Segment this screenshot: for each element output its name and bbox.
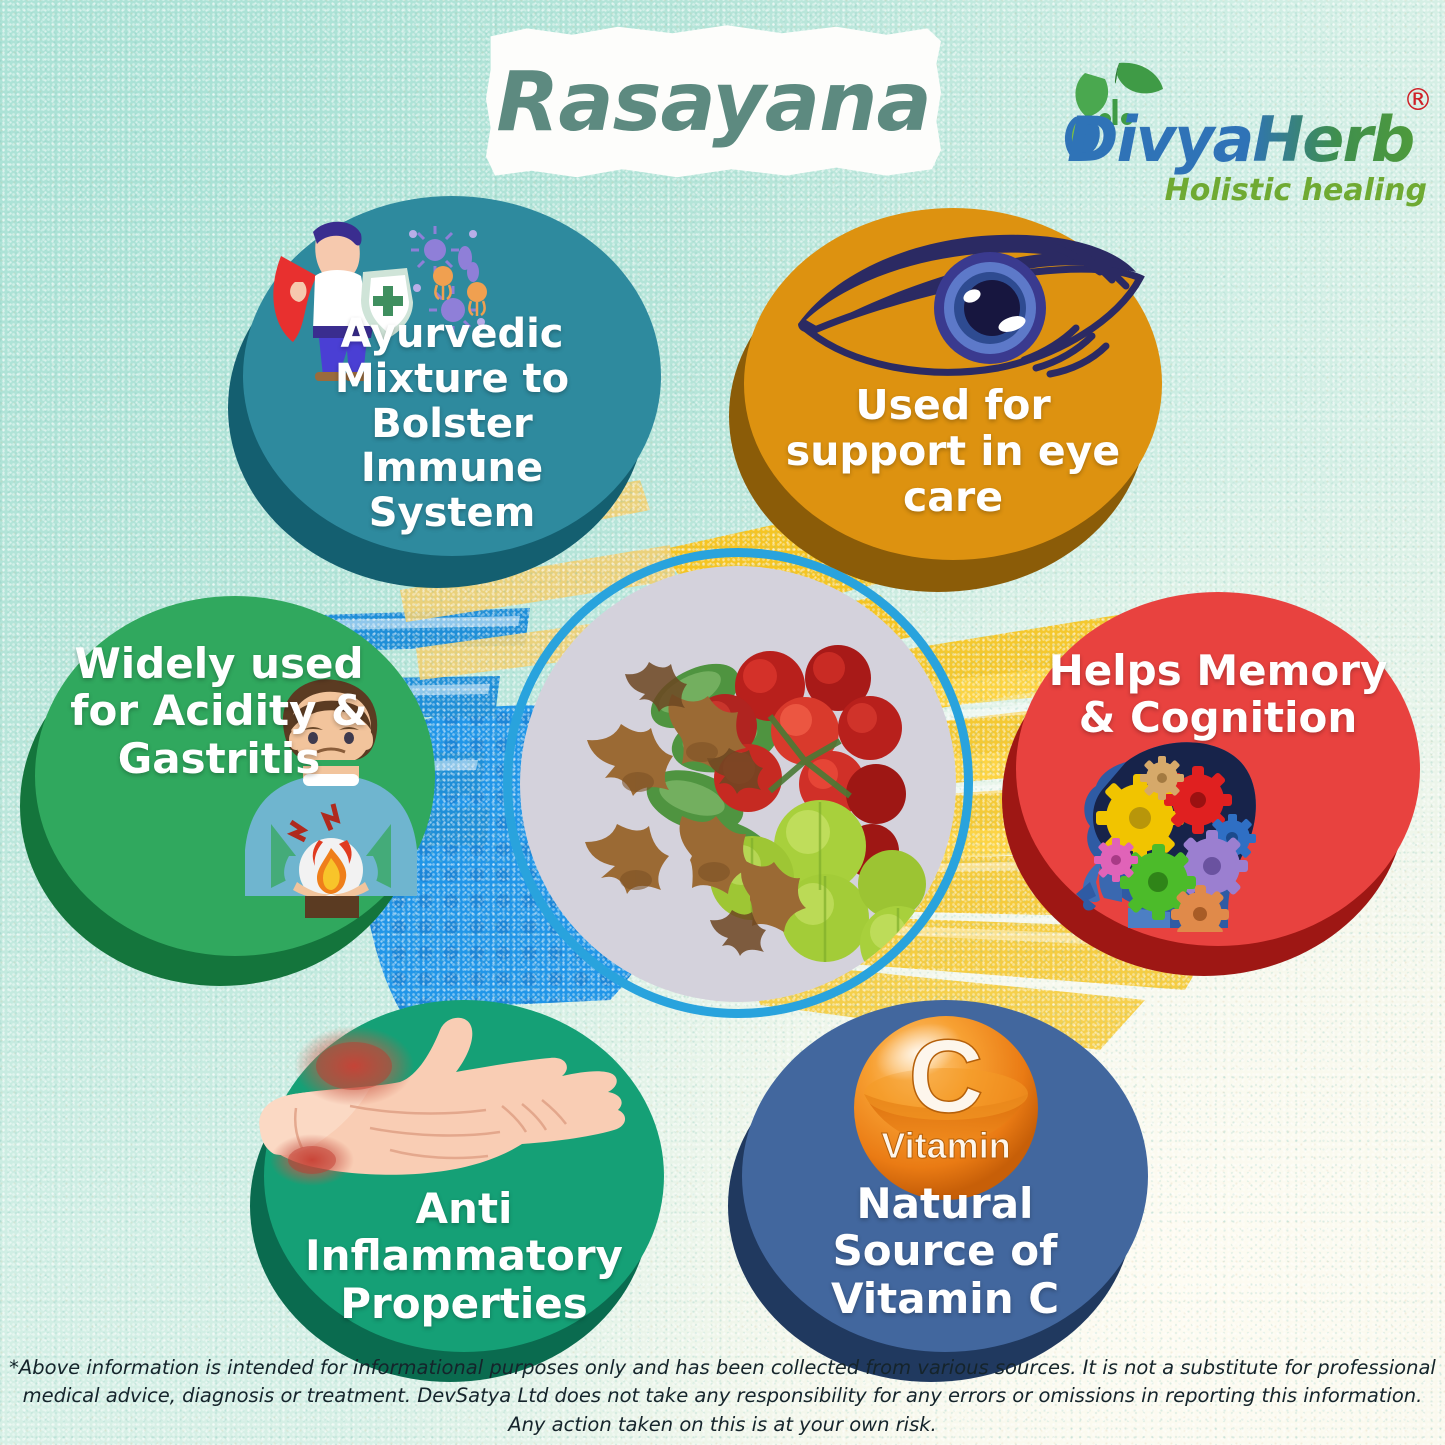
gear-tan: [1140, 756, 1184, 800]
gear-green: [1120, 844, 1196, 920]
bubble-label-acidity: Widely used for Acidity & Gastritis: [54, 640, 384, 781]
disclaimer-text: *Above information is intended for infor…: [0, 1354, 1445, 1439]
vitamin-c-sphere-icon: C Vitamin: [846, 1008, 1046, 1208]
svg-text:C: C: [908, 1019, 983, 1135]
bubble-memory[interactable]: Helps Memory & Cognition: [1016, 592, 1420, 946]
bubble-label-vitamin-c: Natural Source of Vitamin C: [770, 1180, 1120, 1321]
inflamed-hand-icon: [250, 1010, 650, 1210]
brand-logo: DivyaHerb ® Holistic healing: [1055, 55, 1435, 220]
gear-yellow: [1096, 774, 1184, 862]
svg-text:Vitamin: Vitamin: [881, 1125, 1010, 1166]
center-ring: [503, 548, 973, 1018]
bubble-label-immune: Ayurvedic Mixture to Bolster Immune Syst…: [287, 312, 617, 536]
gear-orange: [1171, 885, 1229, 932]
brain-gears-icon: [1066, 732, 1316, 932]
page-title: Rasayana: [486, 22, 941, 182]
gear-blue: [1208, 814, 1256, 862]
bubble-vitamin-c[interactable]: C Vitamin Natural Source of Vitamin C: [742, 1000, 1148, 1352]
gear-pink: [1094, 838, 1138, 882]
bubble-immune[interactable]: Ayurvedic Mixture to Bolster Immune Syst…: [243, 196, 661, 556]
bubble-label-eye-care: Used for support in eye care: [773, 383, 1133, 521]
gear-purple: [1176, 830, 1248, 902]
bubble-anti-inflammatory[interactable]: Anti Inflammatory Properties: [264, 1000, 664, 1352]
brand-name: DivyaHerb: [1067, 103, 1413, 176]
infographic-poster: Rasayana DivyaHerb ® Holistic healing: [0, 0, 1445, 1445]
gear-red: [1164, 766, 1232, 834]
bubble-acidity[interactable]: Widely used for Acidity & Gastritis: [35, 596, 435, 956]
bubble-label-memory: Helps Memory & Cognition: [1043, 647, 1393, 741]
bubble-eye-care[interactable]: Used for support in eye care: [744, 208, 1162, 560]
registered-icon: ®: [1403, 83, 1433, 118]
brand-tagline: Holistic healing: [1165, 173, 1427, 208]
bubble-label-anti-inflammatory: Anti Inflammatory Properties: [289, 1185, 639, 1326]
